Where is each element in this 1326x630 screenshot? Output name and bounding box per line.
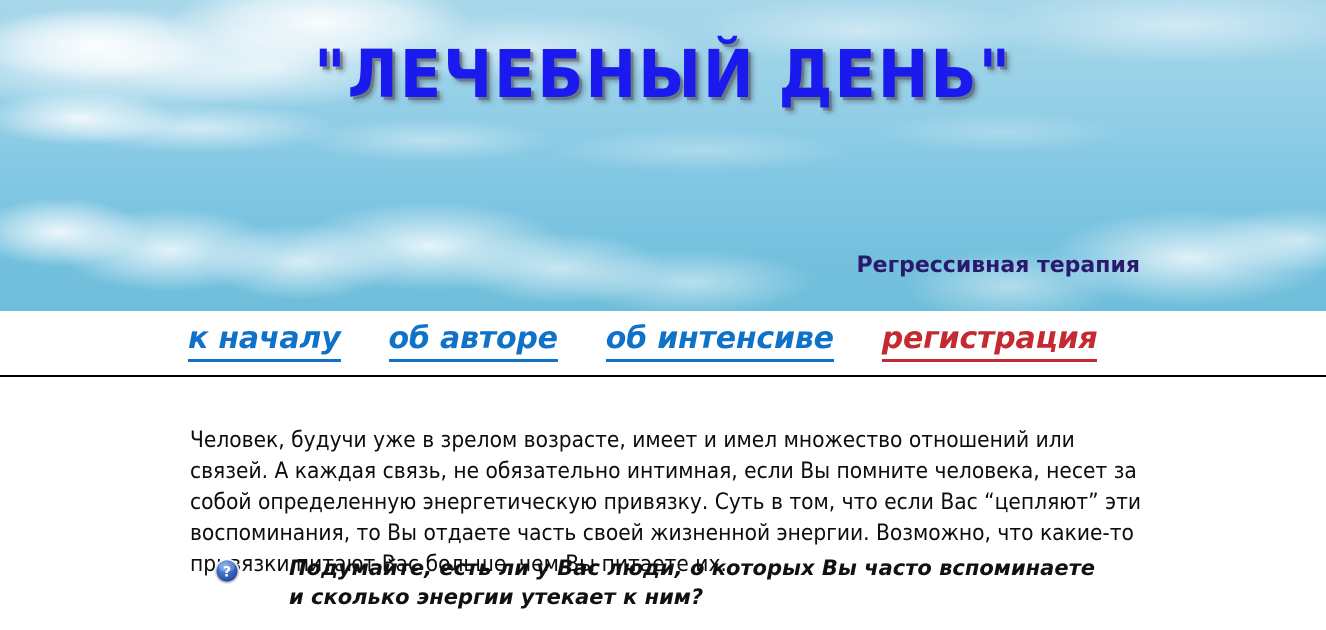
question-mark-circle-icon: ?: [214, 558, 240, 584]
nav-link-about-author[interactable]: об авторе: [389, 321, 558, 362]
question-text: Подумайте, есть ли у Вас люди, о которых…: [289, 554, 1095, 612]
svg-text:?: ?: [223, 564, 231, 580]
nav-link-home[interactable]: к началу: [188, 321, 341, 362]
page-title: "ЛЕЧЕБНЫЙ ДЕНЬ": [53, 42, 1273, 108]
nav-link-list: к началу об авторе об интенсиве регистра…: [188, 321, 1097, 362]
site-subtitle: Регрессивная терапия: [857, 253, 1140, 278]
nav-link-registration[interactable]: регистрация: [882, 321, 1098, 362]
site-banner: "ЛЕЧЕБНЫЙ ДЕНЬ" Регрессивная терапия: [0, 0, 1326, 311]
question-callout: ? Подумайте, есть ли у Вас люди, о котор…: [190, 554, 1095, 612]
nav-link-about-intensive[interactable]: об интенсиве: [606, 321, 834, 362]
main-navigation: к началу об авторе об интенсиве регистра…: [0, 311, 1326, 377]
